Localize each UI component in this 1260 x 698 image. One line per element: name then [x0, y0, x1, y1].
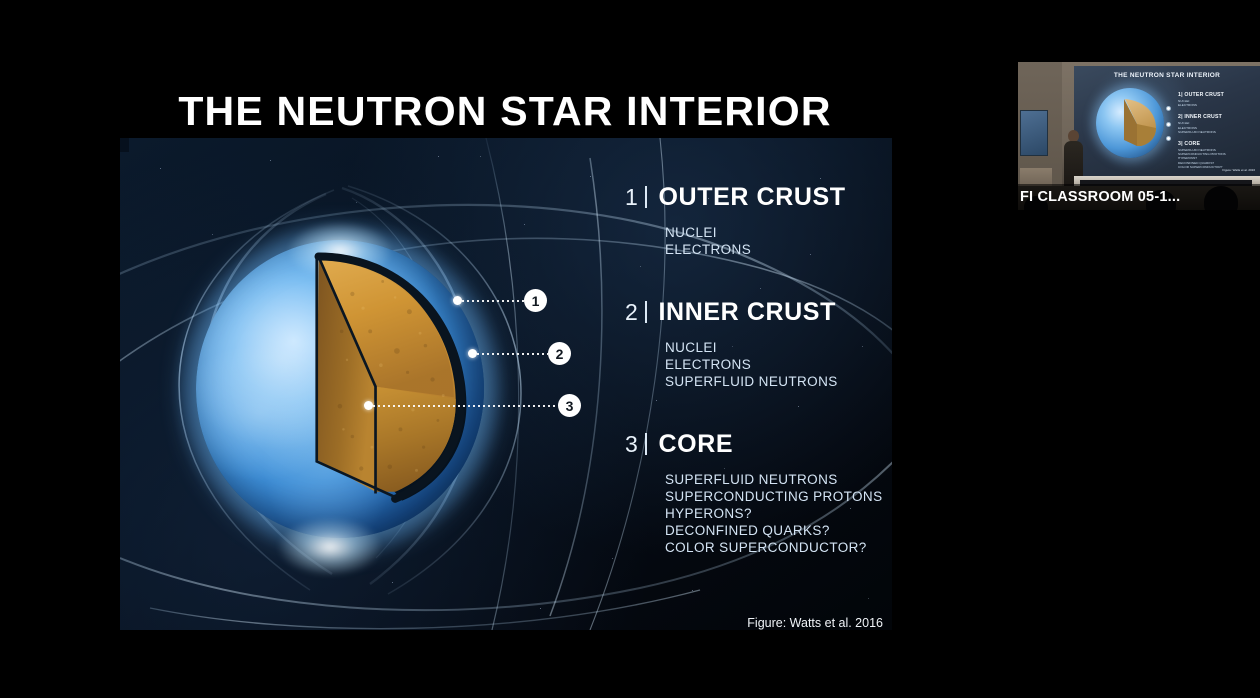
projected-head-3: 3| CORE: [1178, 141, 1256, 147]
layer-separator-3: [645, 433, 647, 455]
layer-outer-crust-heading: 1 OUTER CRUST: [625, 183, 883, 212]
layer-title-2: INNER CRUST: [659, 298, 836, 327]
list-item: SUPERCONDUCTING PROTONS: [665, 488, 883, 505]
core-cutaway-wedge: [290, 244, 486, 506]
figure-credit: Figure: Watts et al. 2016: [625, 616, 883, 630]
callout-leader-1: [462, 300, 524, 302]
layer-outer-crust: 1 OUTER CRUST NUCLEI ELECTRONS: [625, 183, 883, 258]
projected-sub-2c: SUPERFLUID NEUTRONS: [1178, 130, 1256, 134]
projected-callout-dot-2: [1166, 122, 1171, 127]
callout-badge-1[interactable]: 1: [524, 289, 547, 312]
layer-inner-crust: 2 INNER CRUST NUCLEI ELECTRONS SUPERFLUI…: [625, 298, 883, 390]
list-item: NUCLEI: [665, 224, 883, 241]
south-pole-glow: [278, 518, 382, 576]
projected-core-wedge: [1120, 96, 1160, 148]
list-item: NUCLEI: [665, 339, 883, 356]
projection-screen: THE NEUTRON STAR INTERIOR 1| OUTER CRUST: [1074, 66, 1260, 178]
layer-separator-2: [645, 301, 647, 323]
list-item: SUPERFLUID NEUTRONS: [665, 373, 883, 390]
callout-badge-2[interactable]: 2: [548, 342, 571, 365]
list-item: SUPERFLUID NEUTRONS: [665, 471, 883, 488]
slide-figure: 1 2 3 1 OUTER CRUST NUCLEI: [120, 138, 892, 630]
neutron-star-illustration: [150, 196, 530, 596]
projected-sub-3: SUPERFLUID NEUTRONS SUPERCONDUCTING PROT…: [1178, 148, 1256, 169]
participant-label-band: FI CLASSROOM 05-1...: [1018, 184, 1260, 210]
layer-core-heading: 3 CORE: [625, 430, 883, 459]
legend-spacer-2: [625, 394, 883, 430]
layer-core: 3 CORE SUPERFLUID NEUTRONS SUPERCONDUCTI…: [625, 430, 883, 556]
layer-title-1: OUTER CRUST: [659, 183, 846, 212]
projected-callout-dot-3: [1166, 136, 1171, 141]
callout-leader-2: [477, 353, 548, 355]
projected-figure-credit: Figure: Watts et al. 2016: [1222, 168, 1255, 172]
presentation-stage: THE NEUTRON STAR INTERIOR: [0, 0, 1010, 698]
list-item: ELECTRONS: [665, 241, 883, 258]
layer-index-3: 3: [625, 431, 643, 458]
wall-monitor: [1020, 110, 1048, 156]
projected-slide-title: THE NEUTRON STAR INTERIOR: [1074, 72, 1260, 79]
layer-index-1: 1: [625, 184, 643, 211]
list-item: HYPERONS?: [665, 505, 883, 522]
legend-spacer-1: [625, 262, 883, 298]
layer-inner-crust-items: NUCLEI ELECTRONS SUPERFLUID NEUTRONS: [665, 339, 883, 390]
layer-separator-1: [645, 186, 647, 208]
projected-callout-dot-1: [1166, 106, 1171, 111]
list-item: ELECTRONS: [665, 356, 883, 373]
callout-badge-3[interactable]: 3: [558, 394, 581, 417]
projected-sub-1b: ELECTRONS: [1178, 103, 1256, 107]
screen-root: THE NEUTRON STAR INTERIOR: [0, 0, 1260, 698]
layer-outer-crust-items: NUCLEI ELECTRONS: [665, 224, 883, 258]
projected-legend: 1| OUTER CRUST NUCLEI ELECTRONS 2| INNER…: [1178, 92, 1256, 176]
projected-sub-2: NUCLEI ELECTRONS SUPERFLUID NEUTRONS: [1178, 121, 1256, 134]
list-item: COLOR SUPERCONDUCTOR?: [665, 539, 883, 556]
callout-dot-1: [453, 296, 462, 305]
callout-dot-3: [364, 401, 373, 410]
layer-index-2: 2: [625, 299, 643, 326]
callout-leader-3: [373, 405, 558, 407]
callout-dot-2: [468, 349, 477, 358]
layer-title-3: CORE: [659, 430, 734, 459]
page-title: THE NEUTRON STAR INTERIOR: [0, 88, 1010, 135]
participant-label: FI CLASSROOM 05-1...: [1018, 189, 1180, 205]
list-item: DECONFINED QUARKS?: [665, 522, 883, 539]
layer-core-items: SUPERFLUID NEUTRONS SUPERCONDUCTING PROT…: [665, 471, 883, 556]
video-participant-tile[interactable]: THE NEUTRON STAR INTERIOR 1| OUTER CRUST: [1018, 62, 1260, 210]
layer-legend: 1 OUTER CRUST NUCLEI ELECTRONS 2 INNER C…: [625, 183, 883, 560]
projected-head-1: 1| OUTER CRUST: [1178, 92, 1256, 98]
projected-sub-1: NUCLEI ELECTRONS: [1178, 99, 1256, 107]
layer-inner-crust-heading: 2 INNER CRUST: [625, 298, 883, 327]
projected-head-2: 2| INNER CRUST: [1178, 114, 1256, 120]
